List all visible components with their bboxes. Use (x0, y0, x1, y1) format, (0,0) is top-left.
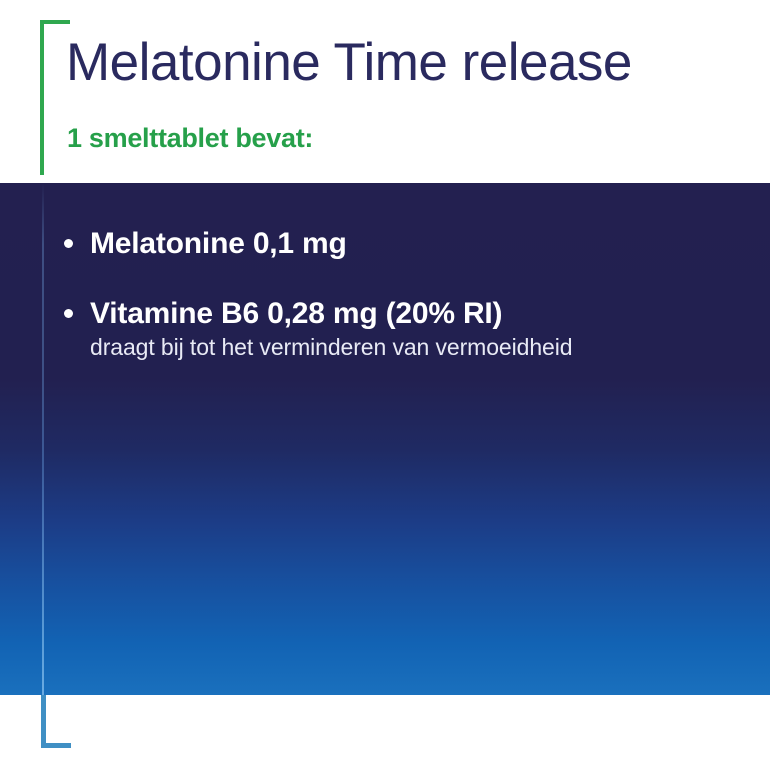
vertical-accent-line (42, 183, 44, 695)
ingredient-label: Vitamine B6 0,28 mg (20% RI) (90, 292, 502, 336)
ingredient-label: Melatonine 0,1 mg (90, 222, 347, 266)
page-title: Melatonine Time release (66, 33, 632, 93)
list-item: Vitamine B6 0,28 mg (20% RI) (64, 292, 704, 336)
ingredients-list: Melatonine 0,1 mg Vitamine B6 0,28 mg (2… (64, 222, 704, 336)
bullet-dot-icon (64, 239, 73, 248)
bullet-dot-icon (64, 309, 73, 318)
footer-zone: Lees voor aankoop de informatie op de ve… (0, 695, 770, 770)
green-bracket-stem (40, 20, 44, 175)
blue-bracket-bottom-stub (41, 743, 71, 748)
ingredient-claim-note: draagt bij tot het verminderen van vermo… (90, 332, 572, 362)
product-info-poster: Melatonine Time release 1 smelttablet be… (0, 0, 770, 770)
page-subtitle: 1 smelttablet bevat: (67, 122, 313, 154)
blue-bracket-stem (41, 695, 46, 748)
list-item: Melatonine 0,1 mg (64, 222, 704, 266)
green-bracket-top-stub (40, 20, 70, 24)
header-zone: Melatonine Time release 1 smelttablet be… (0, 0, 770, 183)
